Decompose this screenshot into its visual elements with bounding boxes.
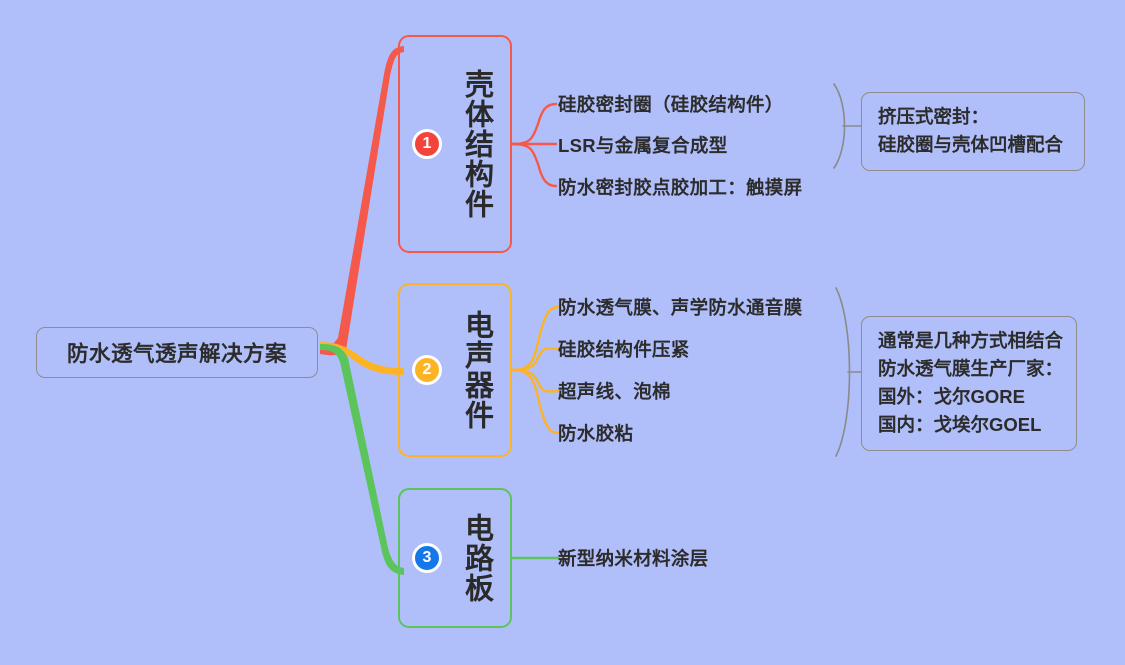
note-box-2[interactable]: 通常是几种方式相结合 防水透气膜生产厂家： 国外：戈尔GORE 国内：戈埃尔GO… (861, 316, 1077, 451)
mindmap-canvas: 防水透气透声解决方案 1 壳体结构件 硅胶密封圈（硅胶结构件） LSR与金属复合… (0, 0, 1125, 665)
leaf-1-2[interactable]: LSR与金属复合成型 (558, 132, 728, 158)
note-box-1[interactable]: 挤压式密封： 硅胶圈与壳体凹槽配合 (861, 92, 1085, 171)
leaf-1-1[interactable]: 硅胶密封圈（硅胶结构件） (558, 91, 784, 117)
leaf-3-1[interactable]: 新型纳米材料涂层 (558, 545, 708, 571)
branch-node-3[interactable]: 3 电路板 (398, 488, 512, 628)
branch-label-wrap-3: 电路板 (442, 490, 510, 626)
branch-label-1: 壳体结构件 (455, 69, 496, 219)
group-brace-1 (834, 84, 861, 168)
note-2-line-4: 国内：戈埃尔GOEL (878, 411, 1062, 439)
leaf-connectors-branch-1 (512, 104, 556, 186)
branch-node-1[interactable]: 1 壳体结构件 (398, 35, 512, 253)
leaf-2-3[interactable]: 超声线、泡棉 (558, 378, 671, 404)
trunk-branch-1 (320, 46, 404, 355)
leaf-connectors-branch-2 (512, 307, 558, 433)
leaf-2-1[interactable]: 防水透气膜、声学防水通音膜 (558, 294, 802, 320)
branch-badge-3: 3 (412, 543, 442, 573)
branch-label-wrap-2: 电声器件 (442, 285, 510, 455)
branch-badge-1: 1 (412, 129, 442, 159)
root-node[interactable]: 防水透气透声解决方案 (36, 327, 318, 378)
leaf-1-3[interactable]: 防水密封胶点胶加工：触摸屏 (558, 174, 802, 200)
leaf-2-2[interactable]: 硅胶结构件压紧 (558, 336, 690, 362)
branch-label-3: 电路板 (455, 513, 496, 603)
note-1-line-2: 硅胶圈与壳体凹槽配合 (878, 131, 1070, 159)
branch-node-2[interactable]: 2 电声器件 (398, 283, 512, 457)
note-2-line-2: 防水透气膜生产厂家： (878, 355, 1062, 383)
branch-label-wrap-1: 壳体结构件 (442, 37, 510, 251)
group-brace-2 (836, 288, 861, 456)
note-1-line-1: 挤压式密封： (878, 103, 1070, 131)
branch-label-2: 电声器件 (455, 310, 496, 430)
note-2-line-1: 通常是几种方式相结合 (878, 327, 1062, 355)
note-2-line-3: 国外：戈尔GORE (878, 383, 1062, 411)
root-node-label: 防水透气透声解决方案 (67, 337, 287, 368)
trunk-branch-3 (320, 344, 404, 575)
branch-badge-2: 2 (412, 355, 442, 385)
leaf-2-4[interactable]: 防水胶粘 (558, 420, 633, 446)
trunk-branch-2 (320, 342, 404, 375)
